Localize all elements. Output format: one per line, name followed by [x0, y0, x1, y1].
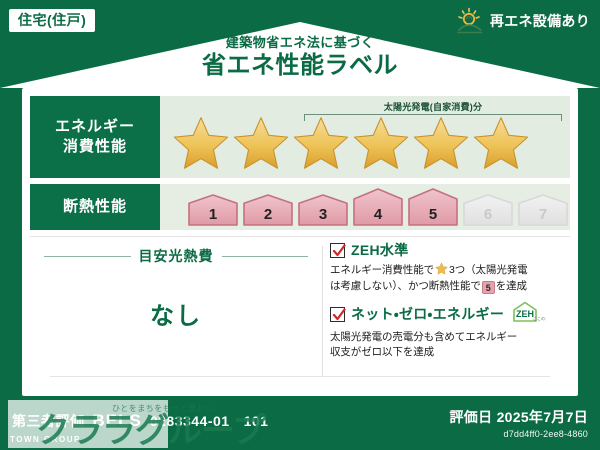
card-mid-divider — [30, 236, 570, 237]
insulation-grade-number: 2 — [264, 206, 272, 227]
label-uuid: d7dd4ff0-2ee8-4860 — [449, 429, 588, 439]
svg-text:ここのえ: ここのえ — [533, 315, 546, 321]
insulation-grade-1: 1 — [187, 193, 239, 227]
label-card: エネルギー 消費性能 太陽光発電(自家消費)分 断熱性能 1234567 — [22, 88, 578, 396]
insulation-performance-body: 1234567 — [160, 184, 570, 230]
insulation-grade-number: 5 — [429, 206, 437, 227]
net-zero-text-line1: 太陽光発電の売電分も含めてエネルギー — [330, 331, 517, 343]
zeh-claims-block: ZEH水準 エネルギー消費性能で3つ（太陽光発電は考慮しない）、かつ断熱性能で5… — [330, 240, 572, 367]
claim-zeh-standard-head: ZEH水準 — [330, 240, 572, 260]
net-zero-body: 太陽光発電の売電分も含めてエネルギー収支がゼロ以下を達成 — [330, 330, 572, 362]
sun-icon — [455, 7, 485, 35]
zeh-standard-text-3: は考慮しない）、かつ断熱性能で — [330, 280, 481, 292]
energy-label-root: 住宅(住戸) 再エネ設備あり 建築物省エネ法に基づく 省エネ性能ラベル エネ — [0, 0, 600, 450]
check-icon — [332, 244, 346, 258]
zeh-standard-checkbox[interactable] — [330, 243, 345, 258]
star-icon — [352, 115, 410, 171]
solar-self-consumption-bracket: 太陽光発電(自家消費)分 — [304, 100, 562, 121]
evaluation-date: 評価日 2025年7月7日 — [449, 407, 588, 427]
insulation-grade-3: 3 — [297, 193, 349, 227]
type-badge: 住宅(住戸) — [8, 8, 96, 33]
inline-star-icon — [435, 262, 448, 275]
star-icon — [172, 115, 230, 171]
insulation-label-text: 断熱性能 — [63, 197, 127, 217]
claim-zeh-standard: ZEH水準 エネルギー消費性能で3つ（太陽光発電は考慮しない）、かつ断熱性能で5… — [330, 240, 572, 295]
zeh-standard-body: エネルギー消費性能で3つ（太陽光発電は考慮しない）、かつ断熱性能で5を達成 — [330, 262, 572, 295]
net-zero-checkbox[interactable] — [330, 307, 345, 322]
insulation-grade-number: 7 — [539, 206, 547, 227]
insulation-grade-scale: 1234567 — [187, 187, 569, 227]
insulation-grade-number: 4 — [374, 206, 382, 227]
zeh-standard-grade-chip: 5 — [482, 281, 495, 294]
insulation-performance-label: 断熱性能 — [30, 184, 160, 230]
footer-left: 第三者評価 BELS 0283344-01 101 — [12, 411, 268, 431]
insulation-grade-6: 6 — [462, 193, 514, 227]
energy-star-rating — [172, 115, 530, 171]
star-icon — [292, 115, 350, 171]
claim-net-zero-energy: ネット・ゼロ・エネルギー ZEH ここのえ 太陽光発電の売電分も含めてエネルギー… — [330, 301, 572, 362]
insulation-grade-number: 1 — [209, 206, 217, 227]
insulation-grade-number: 6 — [484, 206, 492, 227]
card-bottom-divider — [50, 376, 550, 377]
cost-heading-text: 目安光熱費 — [139, 246, 214, 266]
star-icon — [472, 115, 530, 171]
evaluation-date-label: 評価日 — [449, 409, 492, 425]
footer-right: 評価日 2025年7月7日 d7dd4ff0-2ee8-4860 — [449, 407, 588, 439]
estimated-utility-cost-block: 目安光熱費 なし — [30, 240, 322, 388]
unit-number: 101 — [244, 413, 269, 429]
net-zero-title: ネット・ゼロ・エネルギー — [351, 304, 504, 324]
title-main: 省エネ性能ラベル — [0, 51, 600, 81]
energy-label-line1: エネルギー — [55, 117, 135, 137]
zeh-standard-text-2: 3つ（太陽光発電 — [449, 264, 528, 276]
label-footer: 第三者評価 BELS 0283344-01 101 評価日 2025年7月7日 … — [0, 398, 600, 450]
solar-bracket-line — [304, 114, 562, 121]
insulation-performance-row: 断熱性能 1234567 — [30, 184, 570, 230]
cost-value: なし — [30, 296, 322, 331]
bels-logo-text: BELS — [93, 411, 142, 431]
label-title-block: 建築物省エネ法に基づく 省エネ性能ラベル — [0, 36, 600, 81]
net-zero-text-line2: 収支がゼロ以下を達成 — [330, 346, 434, 358]
check-icon — [332, 308, 346, 322]
svg-text:ZEH: ZEH — [516, 309, 534, 319]
star-icon — [232, 115, 290, 171]
evaluation-date-value: 2025年7月7日 — [497, 409, 588, 425]
cost-rule-left — [44, 256, 131, 257]
energy-performance-label: エネルギー 消費性能 — [30, 96, 160, 178]
zeh-standard-text-1: エネルギー消費性能で — [330, 264, 434, 276]
claim-net-zero-head: ネット・ゼロ・エネルギー ZEH ここのえ — [330, 301, 572, 328]
zeh-logo: ZEH ここのえ — [512, 301, 546, 328]
third-party-evaluation-label: 第三者評価 — [12, 411, 85, 431]
insulation-grade-4: 4 — [352, 187, 404, 227]
renewable-equipment-badge: 再エネ設備あり — [455, 7, 590, 35]
zeh-standard-text-4: を達成 — [496, 280, 527, 292]
cost-heading-row: 目安光熱費 — [30, 246, 322, 266]
renewable-badge-label: 再エネ設備あり — [490, 11, 590, 31]
insulation-grade-2: 2 — [242, 193, 294, 227]
energy-performance-body: 太陽光発電(自家消費)分 — [160, 96, 570, 178]
cost-rule-right — [222, 256, 309, 257]
star-icon — [412, 115, 470, 171]
certificate-number: 0283344-01 — [150, 413, 230, 429]
title-subtitle: 建築物省エネ法に基づく — [0, 36, 600, 50]
energy-performance-row: エネルギー 消費性能 太陽光発電(自家消費)分 — [30, 96, 570, 178]
insulation-grade-number: 3 — [319, 206, 327, 227]
insulation-grade-5: 5 — [407, 187, 459, 227]
insulation-grade-7: 7 — [517, 193, 569, 227]
energy-label-line2: 消費性能 — [63, 137, 127, 157]
solar-bracket-label: 太陽光発電(自家消費)分 — [304, 100, 562, 113]
card-vertical-divider — [322, 246, 323, 376]
zeh-standard-title: ZEH水準 — [351, 240, 409, 260]
